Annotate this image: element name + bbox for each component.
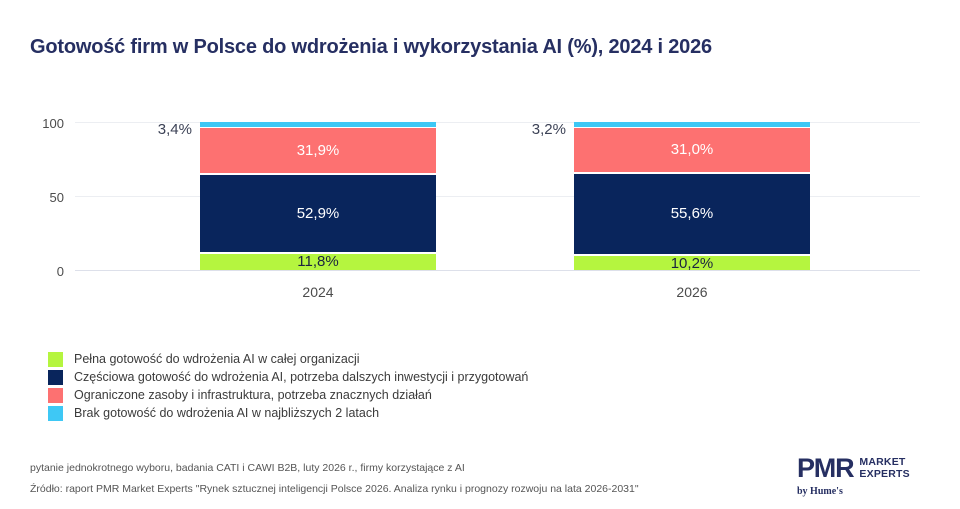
chart-legend: Pełna gotowość do wdrożenia AI w całej o… — [48, 351, 528, 423]
legend-swatch-salmon-icon — [48, 388, 63, 403]
legend-item-full-readiness[interactable]: Pełna gotowość do wdrożenia AI w całej o… — [48, 351, 528, 367]
bar-label-cyan-2024: 3,4% — [132, 122, 192, 137]
bar-label-green-2024: 11,8% — [297, 254, 338, 269]
y-axis-tick-0: 0 — [20, 265, 64, 278]
legend-label-partial-readiness: Częściowa gotowość do wdrożenia AI, potr… — [74, 370, 528, 385]
legend-label-no-readiness: Brak gotowość do wdrożenia AI w najbliżs… — [74, 406, 379, 421]
bar-segment-green-2024[interactable]: 11,8% — [200, 253, 436, 270]
pmr-logo-subtitle-line1: MARKET — [859, 457, 909, 469]
bar-segment-salmon-2026[interactable]: 31,0% — [574, 127, 810, 173]
axis-baseline — [75, 270, 920, 271]
pmr-logo-brand: PMR — [797, 455, 853, 482]
legend-label-full-readiness: Pełna gotowość do wdrożenia AI w całej o… — [74, 352, 360, 367]
bar-label-salmon-2026: 31,0% — [671, 142, 714, 157]
chart-plot-area: 100 50 0 31,9% 52,9% 11,8% 3,4% 2024 31,… — [0, 0, 960, 310]
bar-label-navy-2024: 52,9% — [297, 206, 340, 221]
bar-label-navy-2026: 55,6% — [671, 206, 714, 221]
bar-segment-navy-2026[interactable]: 55,6% — [574, 173, 810, 255]
bar-segment-salmon-2024[interactable]: 31,9% — [200, 127, 436, 174]
bar-label-green-2026: 10,2% — [671, 256, 714, 271]
legend-swatch-green-icon — [48, 352, 63, 367]
x-axis-tick-2024: 2024 — [200, 284, 436, 300]
legend-item-no-readiness[interactable]: Brak gotowość do wdrożenia AI w najbliżs… — [48, 405, 528, 421]
bar-segment-green-2026[interactable]: 10,2% — [574, 255, 810, 270]
pmr-logo-byline: by Hume's — [797, 486, 932, 497]
y-axis-tick-50: 50 — [20, 191, 64, 204]
bar-group-2024[interactable]: 31,9% 52,9% 11,8% 3,4% — [200, 122, 436, 270]
x-axis-tick-2026: 2026 — [574, 284, 810, 300]
legend-swatch-cyan-icon — [48, 406, 63, 421]
bar-segment-navy-2024[interactable]: 52,9% — [200, 174, 436, 252]
bar-label-cyan-2026: 3,2% — [506, 122, 566, 137]
bar-group-2026[interactable]: 31,0% 55,6% 10,2% 3,2% — [574, 122, 810, 270]
footnote-methodology: pytanie jednokrotnego wyboru, badania CA… — [30, 458, 639, 479]
pmr-logo: PMR MARKET EXPERTS by Hume's — [797, 455, 932, 497]
legend-item-limited-resources[interactable]: Ograniczone zasoby i infrastruktura, pot… — [48, 387, 528, 403]
pmr-logo-subtitle-line2: EXPERTS — [859, 469, 909, 481]
legend-swatch-navy-icon — [48, 370, 63, 385]
bar-label-salmon-2024: 31,9% — [297, 143, 340, 158]
pmr-logo-main: PMR MARKET EXPERTS — [797, 455, 932, 482]
legend-item-partial-readiness[interactable]: Częściowa gotowość do wdrożenia AI, potr… — [48, 369, 528, 385]
legend-label-limited-resources: Ograniczone zasoby i infrastruktura, pot… — [74, 388, 432, 403]
chart-footnotes: pytanie jednokrotnego wyboru, badania CA… — [30, 458, 639, 500]
footnote-source: Źródło: raport PMR Market Experts "Rynek… — [30, 479, 639, 500]
pmr-logo-subtitle: MARKET EXPERTS — [859, 457, 909, 480]
y-axis-tick-100: 100 — [20, 117, 64, 130]
